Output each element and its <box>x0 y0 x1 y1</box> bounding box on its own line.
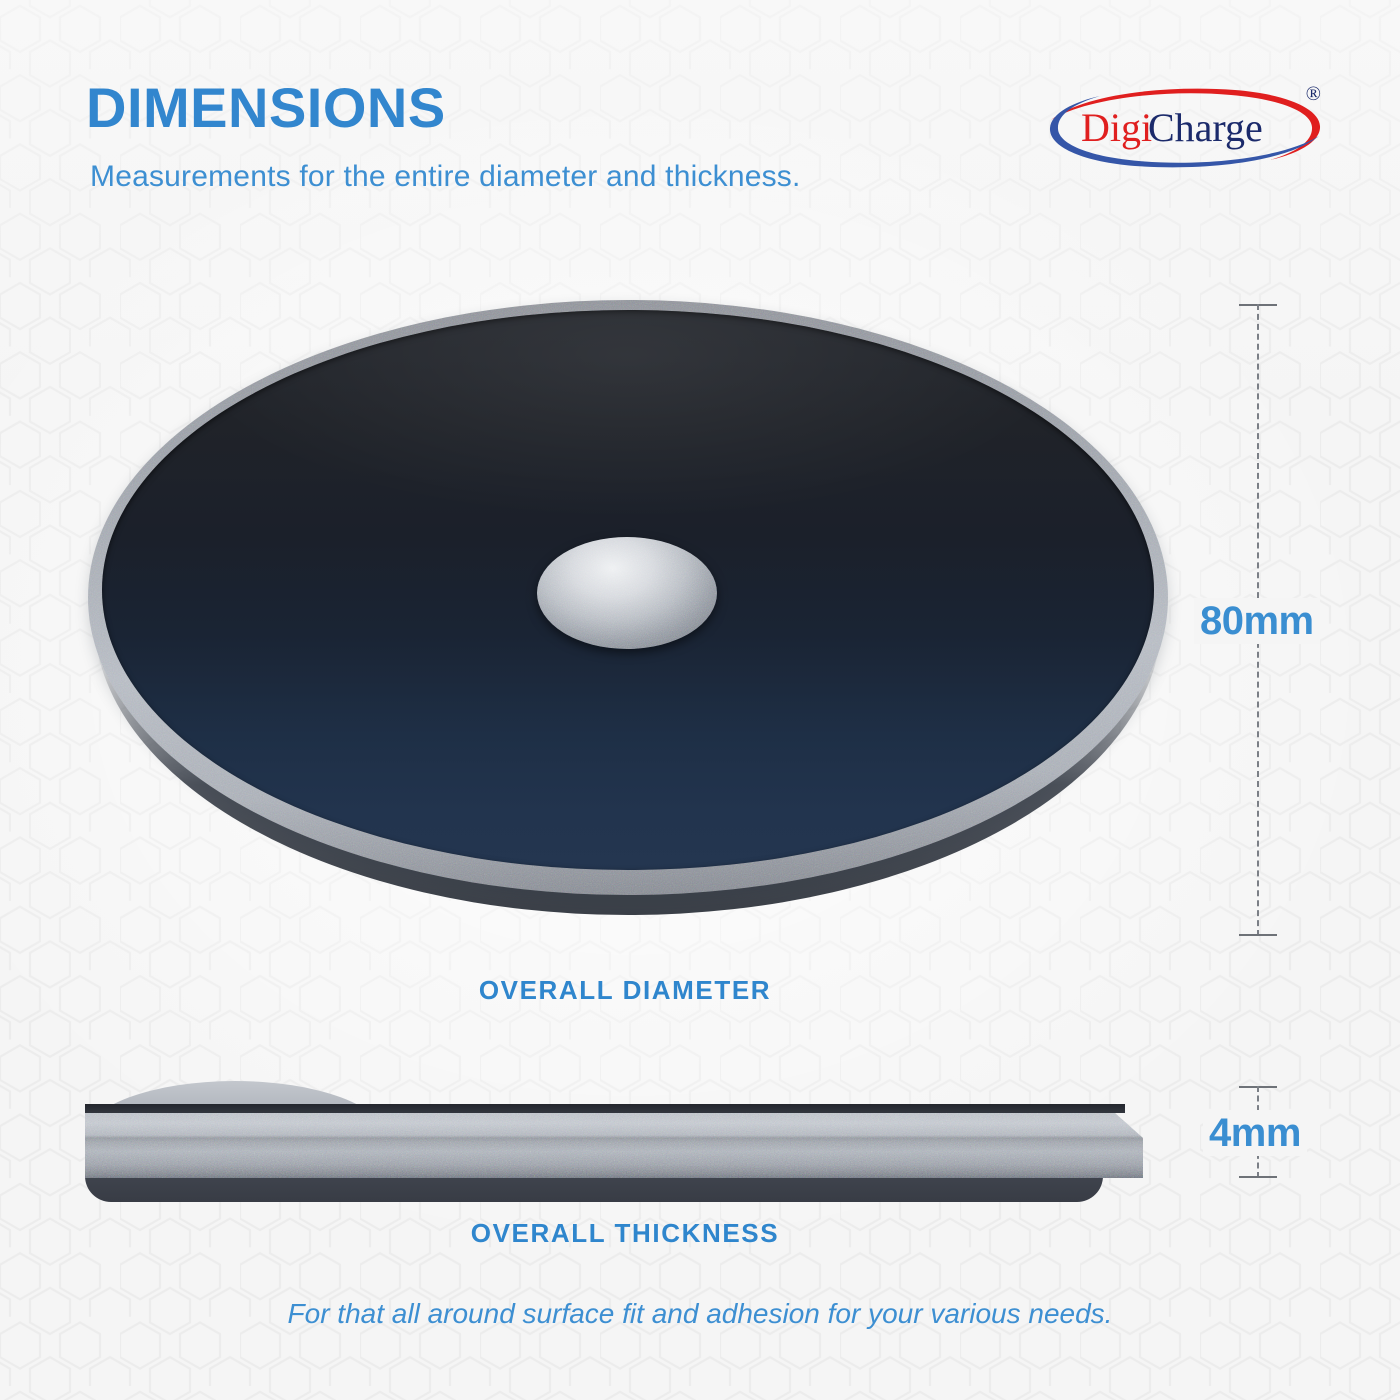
brand-logo: Digi Charge ® <box>1035 84 1335 172</box>
disc-center-dome-texture <box>537 537 717 649</box>
dimension-value-thickness: 4mm <box>1203 1110 1307 1156</box>
product-disc-top-view <box>88 300 1168 920</box>
caption-overall-thickness: OVERALL THICKNESS <box>0 1218 1250 1249</box>
logo-text-digi: Digi <box>1081 105 1152 150</box>
side-view-top-lip <box>85 1104 1125 1113</box>
dimension-value-diameter: 80mm <box>1194 598 1320 644</box>
registered-trademark-icon: ® <box>1306 84 1321 104</box>
dimension-cap-bottom <box>1239 1176 1277 1178</box>
product-disc-side-view <box>85 1078 1155 1188</box>
footnote-text: For that all around surface fit and adhe… <box>0 1298 1400 1330</box>
page-subtitle: Measurements for the entire diameter and… <box>90 160 801 194</box>
logo-text-charge: Charge <box>1148 105 1263 150</box>
page-title: DIMENSIONS <box>86 80 446 136</box>
side-view-band-grain-texture <box>85 1104 1143 1178</box>
infographic-page: DIMENSIONS Measurements for the entire d… <box>0 0 1400 1400</box>
dimension-cap-bottom <box>1239 934 1277 936</box>
caption-overall-diameter: OVERALL DIAMETER <box>0 975 1250 1006</box>
